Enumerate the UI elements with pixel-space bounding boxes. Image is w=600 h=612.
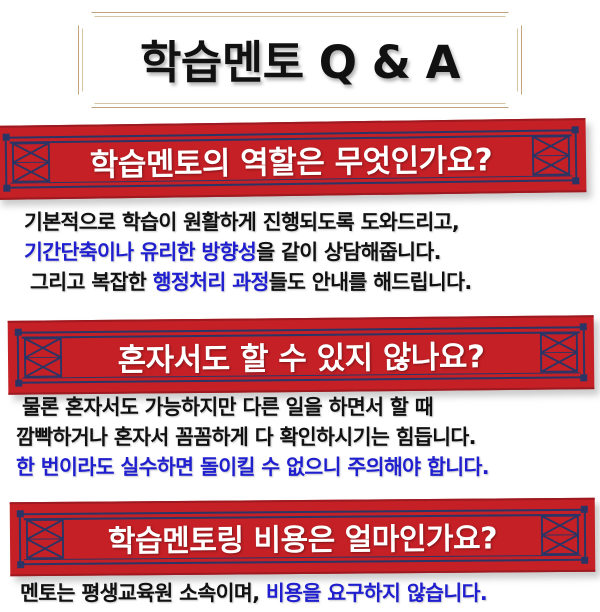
banner-frame-line-right bbox=[584, 509, 586, 561]
diamond-cross-ornament-icon bbox=[26, 519, 64, 559]
banner-corner-square-top-left bbox=[17, 510, 24, 517]
diamond-cross-ornament-icon bbox=[540, 332, 578, 372]
title-card: 학습멘토 Q & A bbox=[78, 12, 522, 108]
question-text-1: 학습멘토의 역할은 무엇인가요? bbox=[58, 121, 525, 197]
answer-span: 그리고 복잡한 bbox=[30, 270, 153, 294]
banner-frame-line-right bbox=[583, 326, 585, 378]
answer-line: 멘토는 평생교육원 소속이며, 비용을 요구하지 않습니다. bbox=[20, 578, 600, 608]
question-banner-1: 학습멘토의 역할은 무엇인가요? bbox=[0, 118, 586, 200]
banner-corner-square-top-left bbox=[3, 134, 10, 141]
banner-corner-square-bottom-left bbox=[17, 561, 24, 568]
answer-span: 기본적으로 학습이 원활하게 진행되도록 도와드리고, bbox=[24, 210, 459, 234]
question-banner-3: 학습멘토링 비용은 얼마인가요? bbox=[10, 498, 596, 577]
answer-span-highlight: 한 번이라도 실수하면 돌이킬 수 없으니 주의해야 합니다. bbox=[16, 455, 489, 479]
answer-line: 물론 혼자서도 가능하지만 다른 일을 하면서 할 때 bbox=[22, 392, 600, 422]
answer-line: 그리고 복잡한 행정처리 과정들도 안내를 해드립니다. bbox=[30, 267, 600, 297]
banner-frame-line-right bbox=[575, 129, 578, 181]
question-text-2: 혼자서도 할 수 있지 않나요? bbox=[70, 318, 533, 392]
question-banner-2: 혼자서도 할 수 있지 않나요? bbox=[8, 315, 595, 395]
banner-frame-line-left bbox=[17, 332, 19, 384]
banner-corner-square-top-right bbox=[580, 323, 587, 330]
answer-span-highlight: 행정처리 과정 bbox=[153, 270, 269, 294]
answer-span: 깜빡하거나 혼자서 꼼꼼하게 다 확인하시기는 힘듭니다. bbox=[16, 425, 476, 449]
answer-span-highlight: 기간단축이나 유리한 방향성 bbox=[24, 240, 256, 264]
question-text-3: 학습멘토링 비용은 얼마인가요? bbox=[72, 500, 534, 574]
banner-corner-square-bottom-left bbox=[3, 185, 10, 192]
banner-corner-square-top-right bbox=[572, 126, 579, 133]
banner-frame-line-left bbox=[19, 513, 21, 565]
answer-block-2: 물론 혼자서도 가능하지만 다른 일을 하면서 할 때 깜빡하거나 혼자서 꼼꼼… bbox=[16, 392, 600, 482]
banner-corner-square-top-left bbox=[15, 329, 22, 336]
answer-line: 기간단축이나 유리한 방향성을 같이 상담해줍니다. bbox=[24, 237, 600, 267]
answer-span: 물론 혼자서도 가능하지만 다른 일을 하면서 할 때 bbox=[22, 395, 433, 419]
answer-line: 기본적으로 학습이 원활하게 진행되도록 도와드리고, bbox=[24, 207, 600, 237]
answer-line: 한 번이라도 실수하면 돌이킬 수 없으니 주의해야 합니다. bbox=[16, 452, 600, 482]
answer-span: 을 같이 상담해줍니다. bbox=[256, 240, 441, 264]
banner-corner-square-bottom-left bbox=[15, 380, 22, 387]
diamond-cross-ornament-icon bbox=[532, 135, 571, 175]
diamond-cross-ornament-icon bbox=[541, 515, 579, 555]
answer-span: 들도 안내를 해드립니다. bbox=[269, 270, 472, 294]
answer-block-3: 멘토는 평생교육원 소속이며, 비용을 요구하지 않습니다. bbox=[20, 578, 600, 608]
banner-corner-square-top-right bbox=[581, 506, 588, 513]
answer-line: 깜빡하거나 혼자서 꼼꼼하게 다 확인하시기는 힘듭니다. bbox=[16, 422, 600, 452]
diamond-cross-ornament-icon bbox=[24, 337, 62, 377]
banner-corner-square-bottom-right bbox=[580, 374, 587, 381]
banner-corner-square-bottom-right bbox=[572, 177, 579, 184]
page-title: 학습멘토 Q & A bbox=[78, 12, 522, 108]
banner-frame-line-left bbox=[5, 137, 8, 189]
answer-span-highlight: 비용을 요구하지 않습니다. bbox=[266, 581, 487, 605]
diamond-cross-ornament-icon bbox=[12, 142, 51, 182]
answer-span: 멘토는 평생교육원 소속이며, bbox=[20, 581, 266, 605]
banner-corner-square-bottom-right bbox=[581, 557, 588, 564]
answer-block-1: 기본적으로 학습이 원활하게 진행되도록 도와드리고, 기간단축이나 유리한 방… bbox=[24, 207, 600, 297]
